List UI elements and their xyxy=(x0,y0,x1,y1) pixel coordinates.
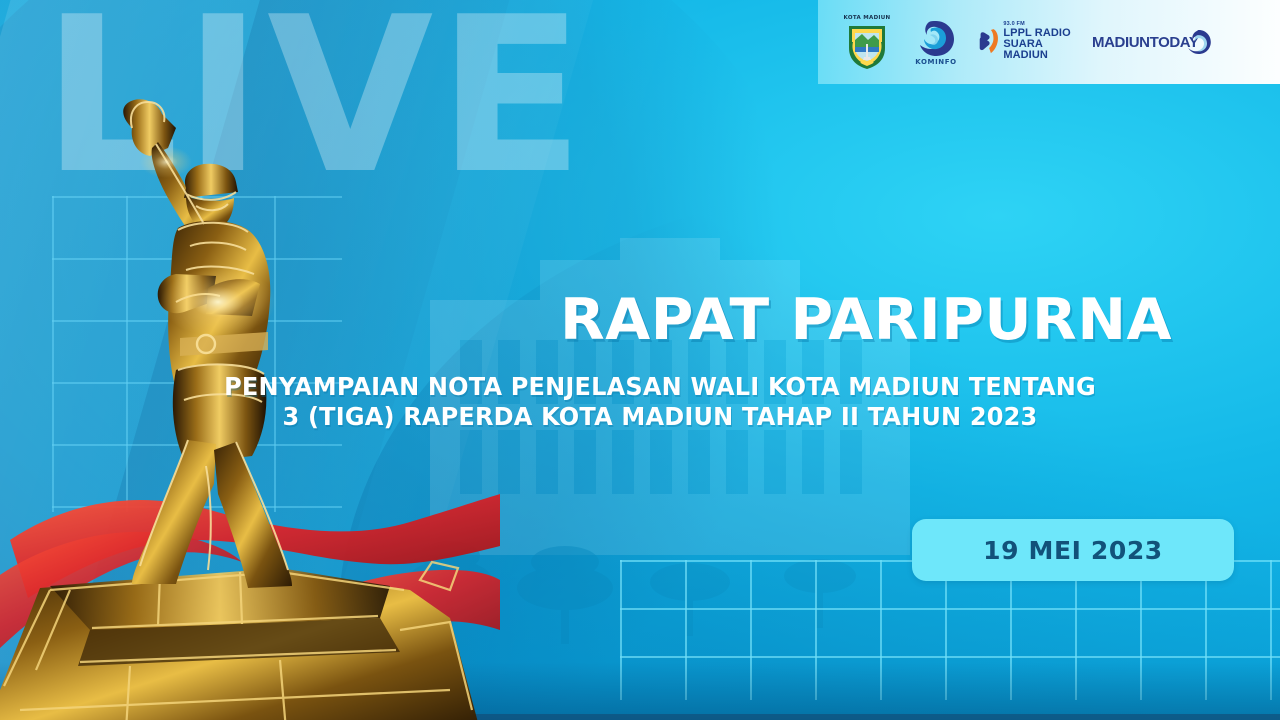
logo-madiuntoday: MADIUNTODAY xyxy=(1092,25,1212,59)
logo-kota-madiun-caption: KOTA MADIUN xyxy=(844,15,891,21)
subtitle-line-1: PENYAMPAIAN NOTA PENJELASAN WALI KOTA MA… xyxy=(46,372,1275,401)
lppl-line2: SUARA MADIUN xyxy=(1003,39,1078,61)
logo-kominfo: KOMINFO xyxy=(908,19,964,66)
kominfo-wave-icon xyxy=(916,19,956,57)
page-title: RAPAT PARIPURNA xyxy=(560,287,1274,353)
event-date-text: 19 MEI 2023 xyxy=(983,536,1163,565)
logo-lppl-radio-suara-madiun: 93.0 FM LPPL RADIO SUARA MADIUN xyxy=(978,22,1078,61)
grid-pattern-bottom-right xyxy=(620,560,1280,700)
broadcast-lower-third-slide: LIVE xyxy=(0,0,1280,720)
logo-madiuntoday-caption: MADIUNTODAY xyxy=(1092,34,1198,51)
kota-madiun-crest-icon xyxy=(845,22,889,70)
logo-kominfo-caption: KOMINFO xyxy=(915,58,956,66)
logo-kota-madiun: KOTA MADIUN xyxy=(840,15,894,70)
broadcaster-logo-bar: KOTA MADIUN KOMINFO xyxy=(818,0,1280,84)
subtitle-line-2: 3 (TIGA) RAPERDA KOTA MADIUN TAHAP II TA… xyxy=(46,402,1275,431)
madiuntoday-swirl-icon xyxy=(1186,25,1212,59)
event-date-badge: 19 MEI 2023 xyxy=(912,519,1234,581)
lppl-mark-icon xyxy=(978,25,1000,59)
